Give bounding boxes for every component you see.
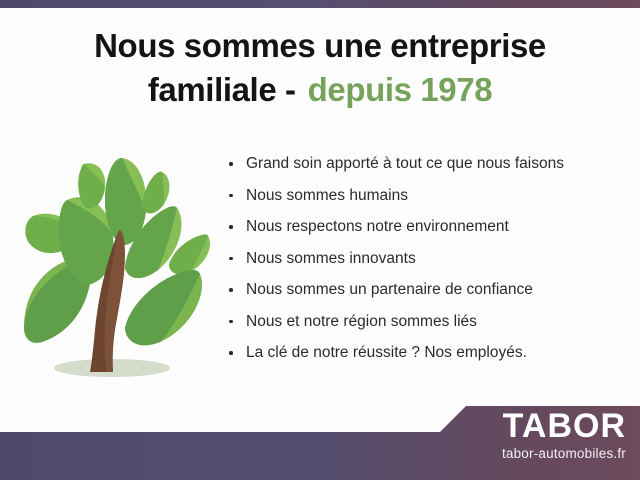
title-line-2-plain: familiale - bbox=[148, 71, 296, 108]
brand-url: tabor-automobiles.fr bbox=[446, 445, 626, 463]
list-item: Nous sommes innovants bbox=[228, 243, 628, 275]
list-item-label: La clé de notre réussite ? Nos employés. bbox=[246, 344, 527, 361]
list-item-label: Grand soin apporté à tout ce que nous fa… bbox=[246, 155, 564, 172]
list-item: Nous et notre région sommes liés bbox=[228, 306, 628, 338]
tree-illustration bbox=[12, 152, 218, 387]
list-item: Nous respectons notre environnement bbox=[228, 211, 628, 243]
tree-icon bbox=[12, 152, 218, 387]
list-item-label: Nous sommes innovants bbox=[246, 250, 416, 267]
brand-wordmark: TABOR bbox=[446, 408, 626, 444]
list-item: Nous sommes un partenaire de confiance bbox=[228, 274, 628, 306]
bullet-dot-icon bbox=[229, 257, 233, 261]
bullet-dot-icon bbox=[229, 351, 233, 355]
bullet-dot-icon bbox=[229, 194, 233, 198]
brand-logo: TABOR tabor-automobiles.fr bbox=[446, 408, 626, 463]
list-item-label: Nous sommes humains bbox=[246, 187, 408, 204]
list-item-label: Nous sommes un partenaire de confiance bbox=[246, 281, 533, 298]
top-accent-bar bbox=[0, 0, 640, 8]
list-item: Grand soin apporté à tout ce que nous fa… bbox=[228, 148, 628, 180]
title-line-1: Nous sommes une entreprise bbox=[0, 24, 640, 68]
title-line-2: familiale -depuis 1978 bbox=[0, 68, 640, 112]
slide-canvas: Nous sommes une entreprise familiale -de… bbox=[0, 0, 640, 480]
list-item: Nous sommes humains bbox=[228, 180, 628, 212]
list-item-label: Nous respectons notre environnement bbox=[246, 218, 509, 235]
list-item-label: Nous et notre région sommes liés bbox=[246, 313, 477, 330]
bullet-dot-icon bbox=[229, 288, 233, 292]
page-title: Nous sommes une entreprise familiale -de… bbox=[0, 24, 640, 112]
benefits-list: Grand soin apporté à tout ce que nous fa… bbox=[228, 148, 628, 369]
list-item: La clé de notre réussite ? Nos employés. bbox=[228, 337, 628, 369]
title-line-2-accent: depuis 1978 bbox=[308, 71, 493, 108]
bullet-dot-icon bbox=[229, 225, 233, 229]
bullet-dot-icon bbox=[229, 320, 233, 324]
footer-bar: TABOR tabor-automobiles.fr bbox=[0, 400, 640, 480]
bullet-dot-icon bbox=[229, 162, 233, 166]
